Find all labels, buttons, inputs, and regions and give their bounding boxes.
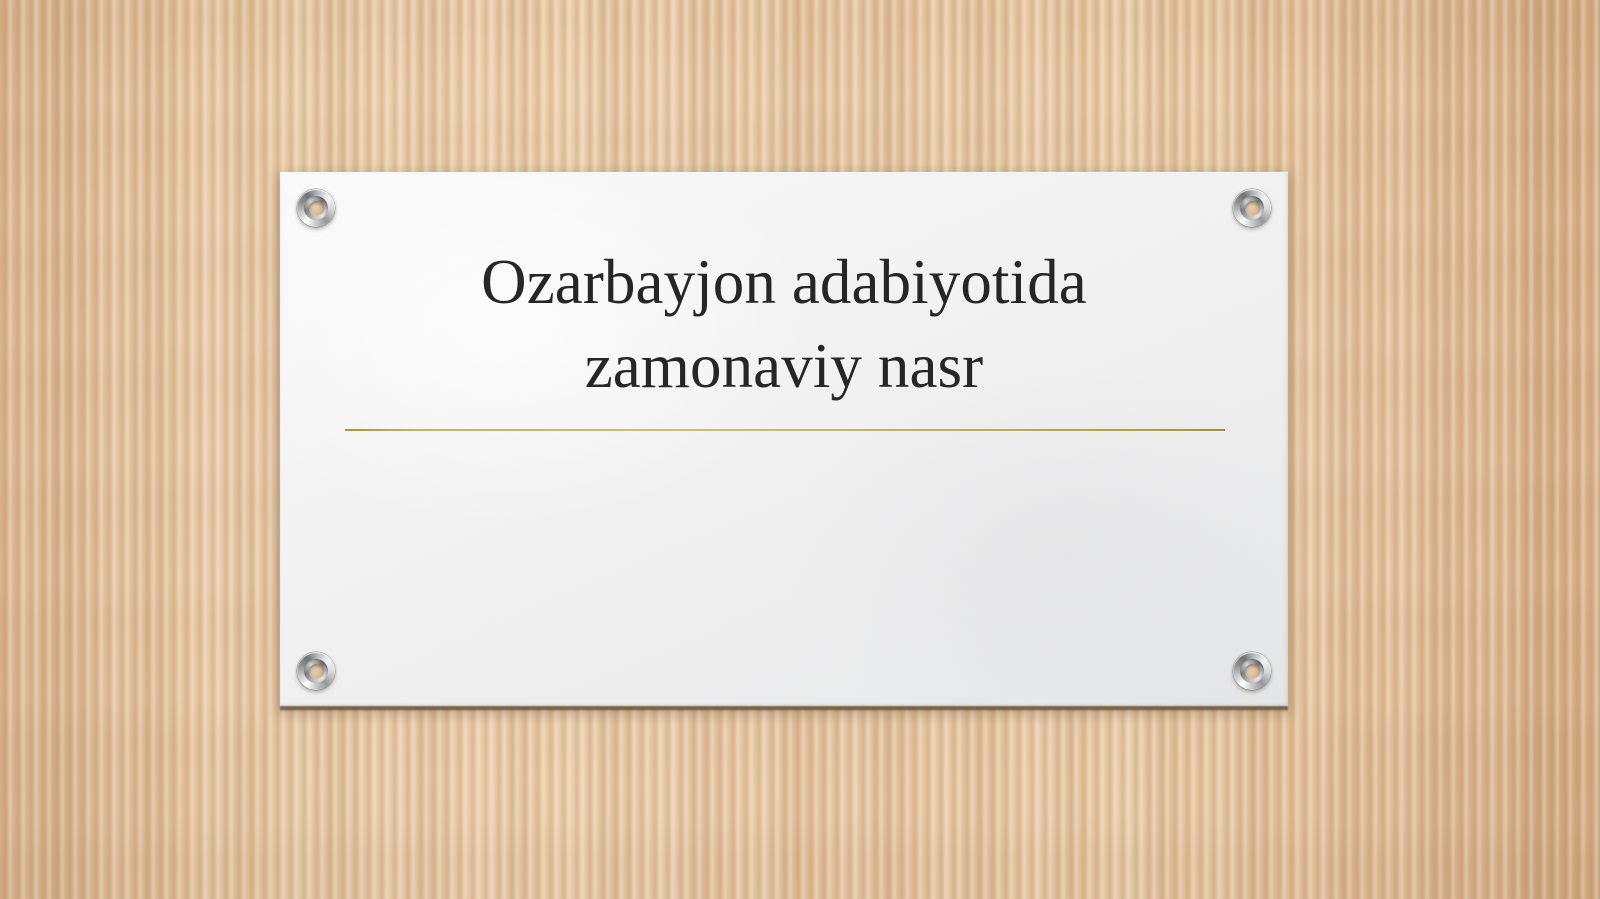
slide-subtitle [345, 472, 1223, 473]
grommet-screw-bottom-right-icon [1233, 652, 1271, 690]
slide-title-line-2: zamonaviy nasr [345, 324, 1223, 408]
slide-title-line-1: Ozarbayjon adabiyotida [345, 240, 1223, 324]
grommet-hole [1245, 201, 1260, 216]
grommet-screw-top-right-icon [1233, 189, 1271, 227]
plaque-bottom-edge [280, 706, 1288, 711]
grommet-hole [309, 201, 324, 216]
grommet-hole [309, 664, 324, 679]
title-accent-rule [345, 429, 1225, 431]
grommet-screw-bottom-left-icon [297, 652, 335, 690]
plaque-surface: Ozarbayjon adabiyotida zamonaviy nasr [280, 172, 1288, 707]
slide-title-block: Ozarbayjon adabiyotida zamonaviy nasr [345, 240, 1223, 431]
title-plaque: Ozarbayjon adabiyotida zamonaviy nasr [280, 172, 1288, 707]
grommet-hole [1245, 664, 1260, 679]
grommet-screw-top-left-icon [297, 189, 335, 227]
presentation-slide: Ozarbayjon adabiyotida zamonaviy nasr [0, 0, 1600, 899]
